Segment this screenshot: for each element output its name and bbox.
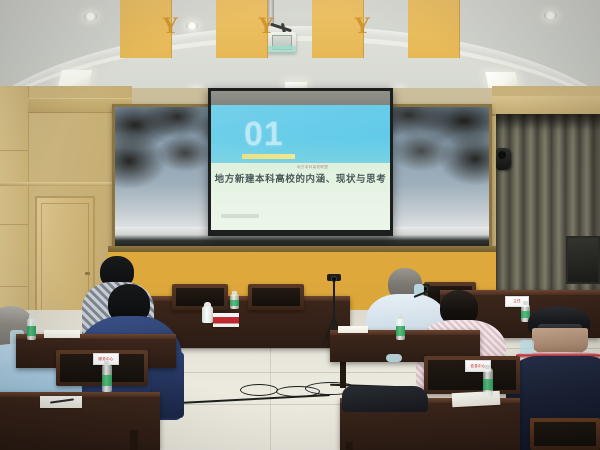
wall-logo-mark: Y [258, 14, 278, 38]
curtain-fold [496, 114, 600, 130]
wainscot-panel [408, 0, 460, 58]
side-monitor [566, 236, 600, 284]
slide-title: 地方新建本科高校的内涵、现状与思考 [211, 171, 390, 185]
curtain-rail [492, 96, 600, 116]
water-bottle [102, 364, 112, 392]
video-camera [327, 274, 341, 281]
tissue-box [213, 313, 239, 327]
water-bottle [396, 318, 405, 340]
notepad [44, 330, 80, 338]
thermos [202, 306, 213, 323]
water-bottle [230, 294, 239, 309]
slide-accent-bar [242, 154, 295, 159]
wall-logo-mark: Y [354, 14, 374, 38]
name-card-text: 主任 [513, 299, 521, 304]
slide-section-number: 01 [244, 117, 284, 151]
downlight [186, 22, 198, 30]
chair[interactable] [530, 418, 600, 450]
wall-logo-mark: Y [162, 14, 182, 38]
downlight [544, 11, 557, 20]
face-mask [520, 340, 534, 354]
projected-slide: 01 地方本科高校联盟 地方新建本科高校的内涵、现状与思考 [211, 105, 390, 230]
tripod-leg [333, 281, 335, 321]
slide-logo-text: 地方本科高校联盟 [297, 165, 328, 170]
left-wall-pilaster [0, 86, 29, 326]
chair[interactable] [172, 284, 228, 310]
water-bottle [483, 368, 493, 396]
folded-jacket [342, 386, 428, 412]
panel-light [58, 70, 92, 86]
downlight [84, 12, 97, 21]
floor-cable [240, 384, 278, 396]
water-bottle [27, 318, 36, 340]
face-mask [386, 354, 402, 362]
papers [452, 391, 501, 407]
door-knob-icon[interactable] [85, 272, 90, 275]
chair[interactable] [248, 284, 304, 310]
slide-top-band [211, 105, 390, 163]
papers [338, 326, 368, 333]
slide-footer-tab [221, 214, 259, 218]
screen-leader-band [211, 91, 390, 105]
slide-logo: 地方本科高校联盟 [295, 164, 325, 170]
lecture-room-photo: 01 地方本科高校联盟 地方新建本科高校的内涵、现状与思考 Y Y Y [0, 0, 600, 450]
speaker-icon [496, 148, 511, 170]
